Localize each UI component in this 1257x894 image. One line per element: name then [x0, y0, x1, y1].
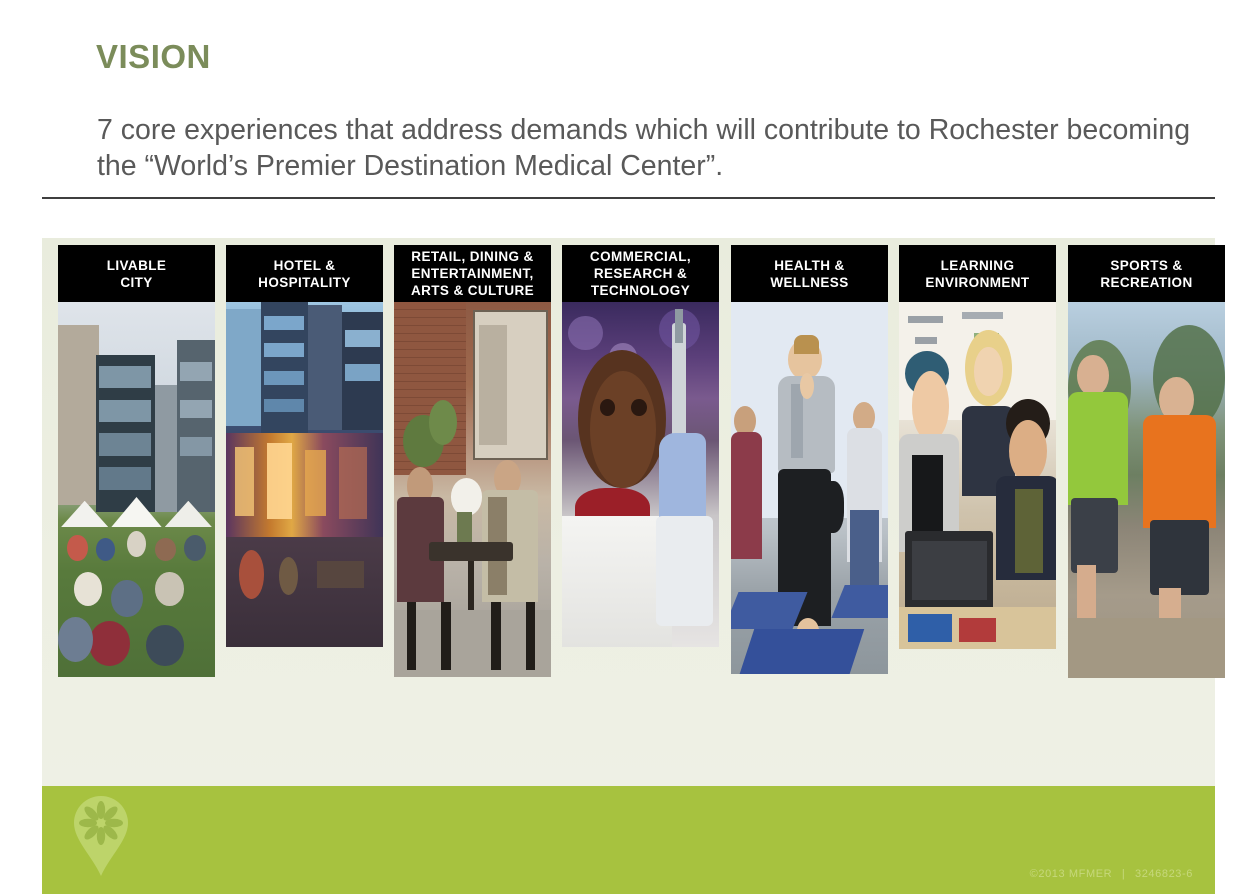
- column-header-health-wellness: HEALTH & WELLNESS: [731, 245, 888, 302]
- column-label: HOTEL & HOSPITALITY: [258, 257, 351, 291]
- column-photo-sports-recreation: [1068, 302, 1225, 678]
- copyright-text: ©2013 MFMER: [1030, 868, 1113, 880]
- column-label: COMMERCIAL, RESEARCH & TECHNOLOGY: [590, 248, 691, 299]
- column-label: SPORTS & RECREATION: [1100, 257, 1192, 291]
- experience-column-learning-environment[interactable]: LEARNING ENVIRONMENT: [899, 245, 1056, 649]
- experience-column-health-wellness[interactable]: HEALTH & WELLNESS: [731, 245, 888, 674]
- footer-bar: ©2013 MFMER | 3246823-6: [42, 786, 1215, 894]
- column-label: LEARNING ENVIRONMENT: [925, 257, 1029, 291]
- experience-column-hotel-hospitality[interactable]: HOTEL & HOSPITALITY: [226, 245, 383, 647]
- column-header-retail-dining: RETAIL, DINING & ENTERTAINMENT, ARTS & C…: [394, 245, 551, 302]
- title-divider: [42, 197, 1215, 199]
- experience-column-retail-dining[interactable]: RETAIL, DINING & ENTERTAINMENT, ARTS & C…: [394, 245, 551, 677]
- column-label: RETAIL, DINING & ENTERTAINMENT, ARTS & C…: [411, 248, 534, 299]
- page-title: VISION: [96, 38, 211, 76]
- document-id: 3246823-6: [1135, 868, 1193, 880]
- column-label: LIVABLE CITY: [107, 257, 167, 291]
- credit-separator: |: [1116, 868, 1131, 880]
- column-header-sports-recreation: SPORTS & RECREATION: [1068, 245, 1225, 302]
- mayo-clinic-pin-logo: [70, 794, 132, 878]
- column-header-livable-city: LIVABLE CITY: [58, 245, 215, 302]
- footer-credit: ©2013 MFMER | 3246823-6: [1030, 868, 1193, 880]
- column-photo-learning-environment: [899, 302, 1056, 649]
- vision-panel: LIVABLE CITY: [42, 238, 1215, 786]
- column-photo-health-wellness: [731, 302, 888, 674]
- experience-column-commercial-research[interactable]: COMMERCIAL, RESEARCH & TECHNOLOGY: [562, 245, 719, 647]
- column-photo-retail-dining: [394, 302, 551, 677]
- column-photo-commercial-research: [562, 302, 719, 647]
- column-photo-hotel-hospitality: [226, 302, 383, 647]
- column-label: HEALTH & WELLNESS: [770, 257, 848, 291]
- column-photo-livable-city: [58, 302, 215, 677]
- column-header-learning-environment: LEARNING ENVIRONMENT: [899, 245, 1056, 302]
- experience-columns: LIVABLE CITY: [42, 238, 1215, 786]
- column-header-hotel-hospitality: HOTEL & HOSPITALITY: [226, 245, 383, 302]
- experience-column-sports-recreation[interactable]: SPORTS & RECREATION: [1068, 245, 1225, 678]
- column-header-commercial-research: COMMERCIAL, RESEARCH & TECHNOLOGY: [562, 245, 719, 302]
- experience-column-livable-city[interactable]: LIVABLE CITY: [58, 245, 215, 677]
- page-subtitle: 7 core experiences that address demands …: [97, 112, 1217, 184]
